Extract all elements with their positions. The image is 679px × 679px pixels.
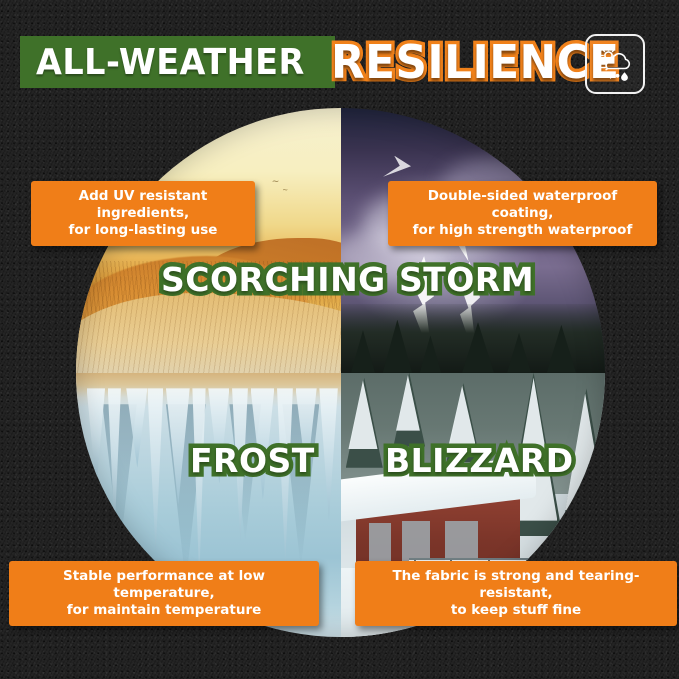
header-green-block: ALL-WEATHER: [20, 36, 335, 88]
callout-blizzard: The fabric is strong and tearing-resista…: [355, 561, 677, 626]
page-title-part1: ALL-WEATHER: [36, 42, 305, 83]
poster-canvas: ALL-WEATHER RESILIENCE: [0, 0, 679, 679]
header-banner: ALL-WEATHER RESILIENCE: [20, 33, 635, 91]
label-storm: STORM: [399, 263, 534, 296]
callout-scorching: Add UV resistant ingredients, for long-l…: [31, 181, 255, 246]
sun-cloud-wind-snow-rain-icon: [585, 34, 645, 94]
label-blizzard: BLIZZARD: [385, 444, 574, 477]
callout-frost: Stable performance at low temperature, f…: [9, 561, 319, 626]
page-title-part2: RESILIENCE: [331, 39, 619, 85]
label-scorching: SCORCHING: [161, 263, 386, 296]
label-frost: FROST: [190, 444, 315, 477]
callout-storm: Double-sided waterproof coating, for hig…: [388, 181, 657, 246]
